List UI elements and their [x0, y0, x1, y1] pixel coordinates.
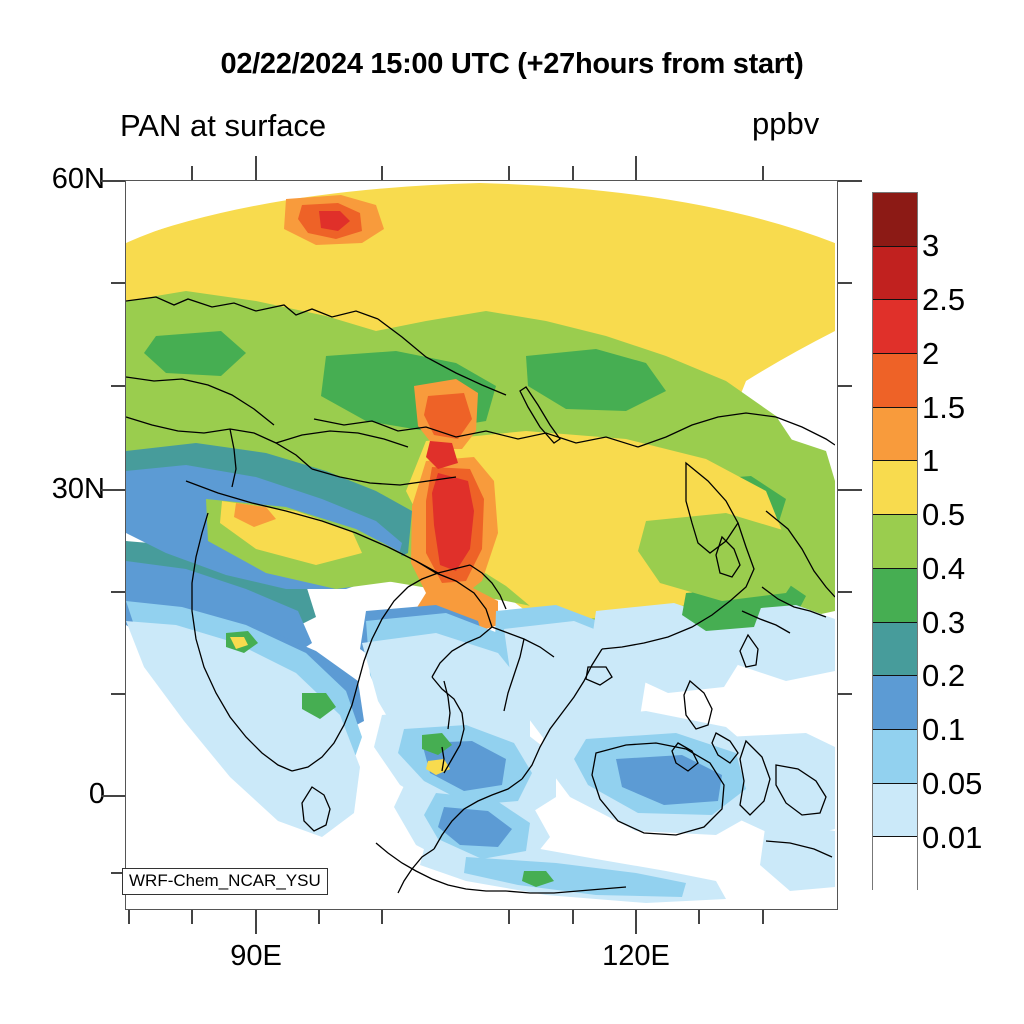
y-tick-right-major — [838, 489, 862, 491]
y-tick-right-minor — [838, 693, 852, 695]
x-tick-top-minor — [572, 166, 574, 180]
colorbar-band[interactable] — [873, 623, 917, 677]
variable-label: PAN at surface — [120, 108, 326, 144]
units-label: ppbv — [752, 106, 819, 142]
x-tick-minor — [318, 910, 320, 924]
colorbar-label: 0.01 — [922, 820, 982, 856]
colorbar-label: 2 — [922, 336, 939, 372]
map-plot-area[interactable] — [125, 180, 838, 910]
x-tick-major — [255, 910, 257, 934]
x-tick-minor — [762, 910, 764, 924]
y-tick-label-30n: 30N — [10, 473, 105, 506]
colorbar-label: 0.05 — [922, 766, 982, 802]
colorbar-label: 0.5 — [922, 497, 965, 533]
x-tick-minor — [191, 910, 193, 924]
y-tick-minor — [111, 591, 125, 593]
colorbar[interactable] — [872, 192, 918, 890]
x-tick-top-major — [635, 156, 637, 180]
colorbar-band[interactable] — [873, 784, 917, 838]
colorbar-band[interactable] — [873, 730, 917, 784]
colorbar-label: 0.2 — [922, 658, 965, 694]
colorbar-band[interactable] — [873, 461, 917, 515]
colorbar-label: 1.5 — [922, 390, 965, 426]
x-tick-minor — [128, 910, 130, 924]
x-tick-major — [635, 910, 637, 934]
x-tick-label-90e: 90E — [186, 940, 326, 973]
x-tick-top-minor — [762, 166, 764, 180]
x-tick-top-minor — [191, 166, 193, 180]
colorbar-band[interactable] — [873, 193, 917, 247]
colorbar-band[interactable] — [873, 676, 917, 730]
colorbar-label: 0.4 — [922, 551, 965, 587]
x-tick-minor — [381, 910, 383, 924]
colorbar-band[interactable] — [873, 515, 917, 569]
colorbar-band[interactable] — [873, 569, 917, 623]
y-tick-minor — [111, 282, 125, 284]
y-tick-right-minor — [838, 591, 852, 593]
colorbar-band[interactable] — [873, 300, 917, 354]
y-tick-major — [101, 489, 125, 491]
y-tick-right-minor — [838, 385, 852, 387]
model-stamp: WRF-Chem_NCAR_YSU — [122, 868, 328, 895]
y-tick-major — [101, 795, 125, 797]
colorbar-label: 3 — [922, 228, 939, 264]
x-tick-minor — [508, 910, 510, 924]
colorbar-label: 2.5 — [922, 282, 965, 318]
x-tick-label-120e: 120E — [566, 940, 706, 973]
x-tick-top-minor — [508, 166, 510, 180]
colorbar-label: 0.1 — [922, 712, 965, 748]
colorbar-band[interactable] — [873, 354, 917, 408]
pan-concentration-map[interactable] — [126, 181, 835, 907]
x-tick-top-minor — [381, 166, 383, 180]
y-tick-major — [101, 180, 125, 182]
y-tick-right-major — [838, 180, 862, 182]
y-tick-right-minor — [838, 282, 852, 284]
colorbar-band[interactable] — [873, 837, 917, 891]
x-tick-minor — [698, 910, 700, 924]
colorbar-band[interactable] — [873, 247, 917, 301]
colorbar-band[interactable] — [873, 408, 917, 462]
colorbar-label: 1 — [922, 443, 939, 479]
y-tick-label-60n: 60N — [10, 163, 105, 196]
x-tick-minor — [572, 910, 574, 924]
y-tick-minor — [111, 693, 125, 695]
y-tick-label-0: 0 — [10, 778, 105, 811]
colorbar-label: 0.3 — [922, 605, 965, 641]
x-tick-top-major — [255, 156, 257, 180]
y-tick-minor — [111, 385, 125, 387]
page-title: 02/22/2024 15:00 UTC (+27hours from star… — [0, 48, 1024, 81]
